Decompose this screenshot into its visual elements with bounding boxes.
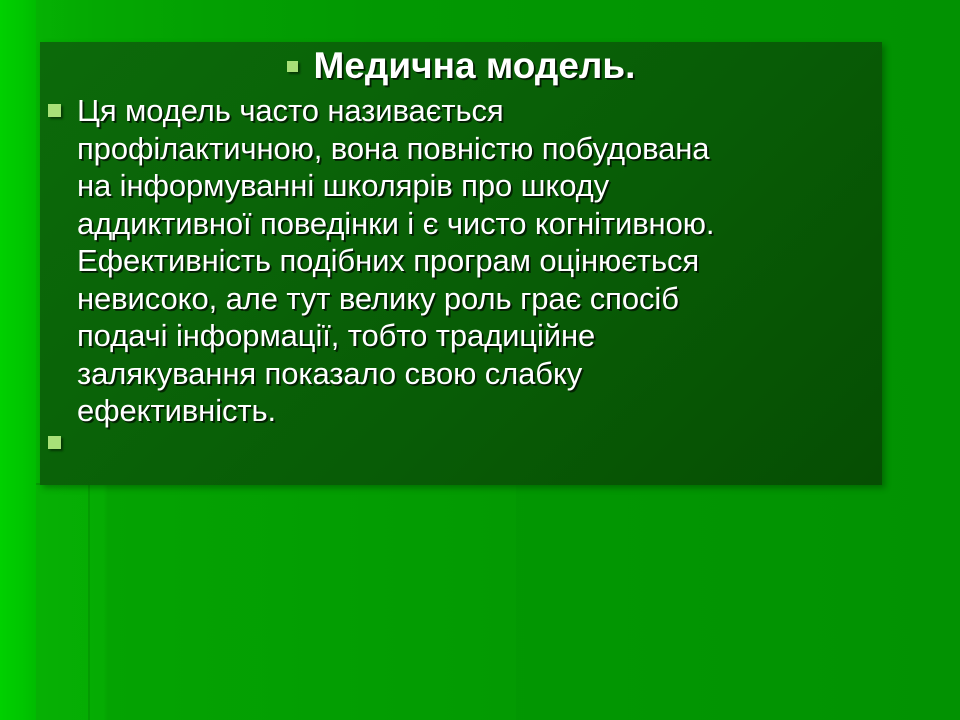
slide-title: Медична модель. [314,44,636,88]
square-bullet-icon [48,104,61,117]
slide-trailing-bullet-row [48,432,77,452]
body-bullet-wrapper [48,92,61,122]
square-bullet-icon [48,436,61,449]
slide-title-row: Медична модель. [40,40,882,92]
slide-background-left-band [0,0,36,720]
slide-body-text: Ця модель часто називається профілактичн… [77,92,714,430]
lower-content-panel [36,483,516,720]
square-bullet-icon [287,61,298,72]
slide-body-row: Ця модель часто називається профілактичн… [48,92,898,430]
lower-content-panel-divider [88,483,90,720]
presentation-slide: Медична модель. Ця модель часто називаєт… [0,0,960,720]
